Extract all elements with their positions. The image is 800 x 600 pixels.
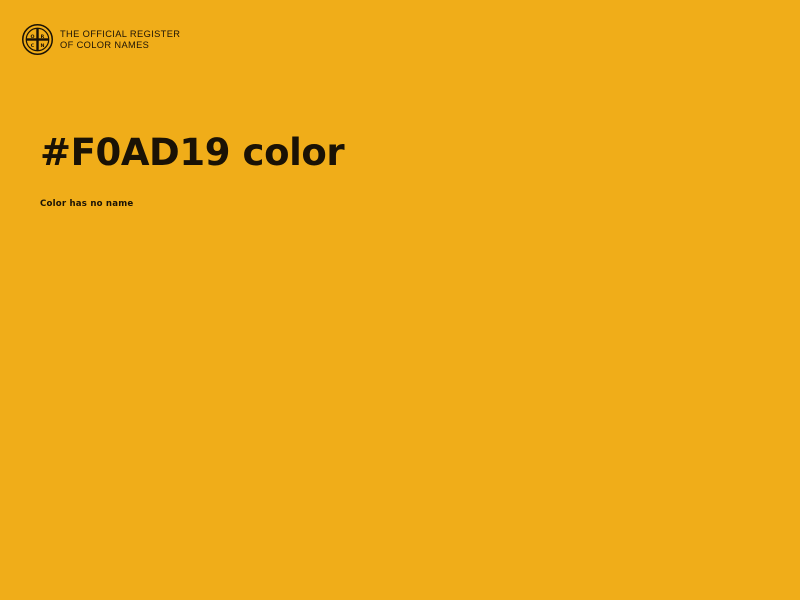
color-name-status: Color has no name xyxy=(40,199,133,209)
brand-line-primary: THE OFFICIAL REGISTER xyxy=(60,29,180,40)
brand-line-secondary: OF COLOR NAMES xyxy=(60,40,180,51)
color-swatch-area xyxy=(0,240,800,600)
color-detail-page: O R C N THE OFFICIAL REGISTER OF COLOR N… xyxy=(0,0,800,600)
svg-text:C: C xyxy=(31,43,35,49)
brand-name: THE OFFICIAL REGISTER OF COLOR NAMES xyxy=(60,28,180,52)
svg-text:O: O xyxy=(30,34,34,40)
svg-text:N: N xyxy=(41,43,45,49)
brand-lockup[interactable]: O R C N THE OFFICIAL REGISTER OF COLOR N… xyxy=(22,24,180,55)
svg-text:R: R xyxy=(41,34,45,40)
register-seal-icon: O R C N xyxy=(22,24,53,55)
page-title: #F0AD19 color xyxy=(40,131,344,174)
